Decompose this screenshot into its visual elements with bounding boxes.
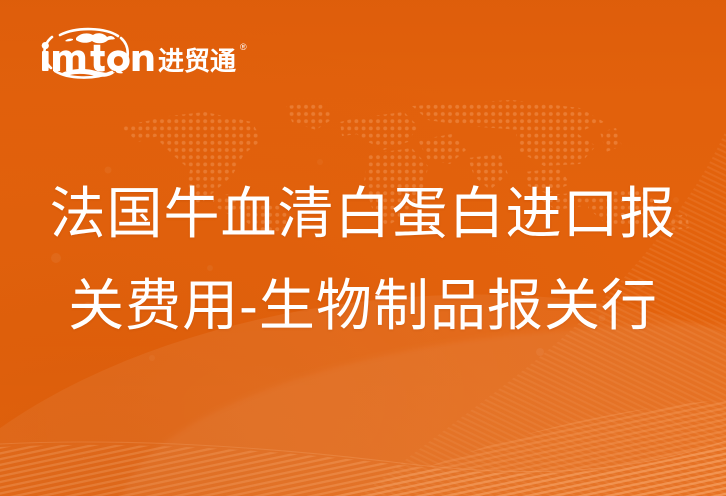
promotional-banner: 进贸通 ® 法国牛血清白蛋白进口报 关费用-生物制品报关行 bbox=[0, 0, 726, 496]
headline: 法国牛血清白蛋白进口报 关费用-生物制品报关行 bbox=[0, 168, 726, 352]
headline-line-1: 法国牛血清白蛋白进口报 bbox=[0, 168, 726, 260]
logo-chinese-name: 进贸通 bbox=[158, 47, 236, 77]
headline-line-2: 关费用-生物制品报关行 bbox=[0, 260, 726, 352]
brand-logo[interactable]: 进贸通 ® bbox=[22, 22, 252, 84]
trademark-icon: ® bbox=[240, 42, 247, 52]
